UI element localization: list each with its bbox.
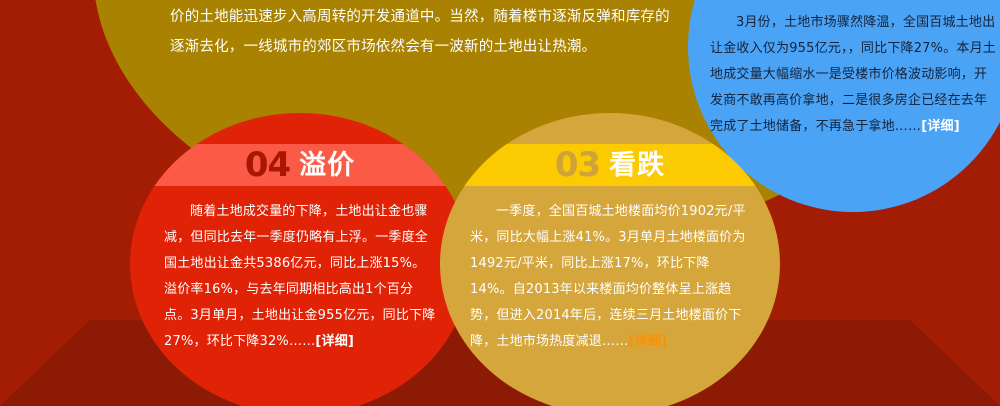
intro-line-1: 价的土地能迅速步入高周转的开发通道中。当然，随着楼市逐渐反弹和库存的: [170, 2, 740, 32]
infographic-canvas: 价的土地能迅速步入高周转的开发通道中。当然，随着楼市逐渐反弹和库存的 逐渐去化，…: [0, 0, 1000, 406]
intro-line-2: 逐渐去化，一线城市的郊区市场依然会有一波新的土地出让热潮。: [170, 32, 740, 62]
bubble-body-copy-04: 随着土地成交量的下降，土地出让金也骤减，但同比去年一季度仍略有上浮。一季度全国土…: [164, 204, 435, 349]
bubble-body-text: 3月份，土地市场骤然降温，全国百城土地出让金收入仅为955亿元，，同比下降27%…: [688, 10, 1000, 140]
bubble-card-03[interactable]: 03 看跌 一季度，全国百城土地楼面均价1902元/平米，同比大幅上涨41%。3…: [440, 113, 780, 406]
bubble-title-03: 看跌: [609, 152, 665, 179]
bubble-body-text-03: 一季度，全国百城土地楼面均价1902元/平米，同比大幅上涨41%。3月单月土地楼…: [440, 199, 780, 355]
bubble-body-copy-03: 一季度，全国百城土地楼面均价1902元/平米，同比大幅上涨41%。3月单月土地楼…: [470, 204, 746, 349]
detail-link-04[interactable]: [详细]: [315, 334, 354, 349]
bubble-header-band-04: 04 溢价: [130, 144, 470, 186]
bubble-body-text-04: 随着土地成交量的下降，土地出让金也骤减，但同比去年一季度仍略有上浮。一季度全国土…: [130, 199, 470, 355]
bubble-number-03: 03: [555, 148, 600, 182]
bubble-number-04: 04: [245, 148, 290, 182]
detail-link[interactable]: [详细]: [921, 119, 960, 134]
bubble-body-copy: 3月份，土地市场骤然降温，全国百城土地出让金收入仅为955亿元，，同比下降27%…: [710, 15, 996, 134]
bubble-card-04[interactable]: 04 溢价 随着土地成交量的下降，土地出让金也骤减，但同比去年一季度仍略有上浮。…: [130, 113, 470, 406]
bubble-title-04: 溢价: [299, 152, 355, 179]
intro-paragraph: 价的土地能迅速步入高周转的开发通道中。当然，随着楼市逐渐反弹和库存的 逐渐去化，…: [170, 2, 740, 62]
detail-link-03[interactable]: [详细]: [628, 334, 667, 349]
bubble-header-band-03: 03 看跌: [440, 144, 780, 186]
